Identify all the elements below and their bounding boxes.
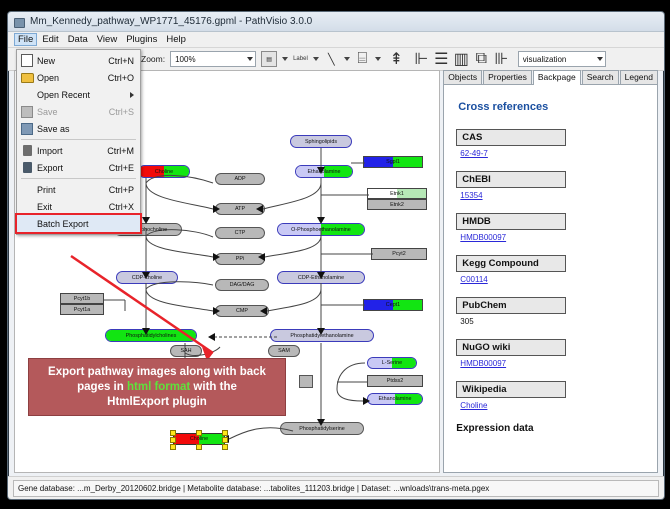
- file-menu-item-export[interactable]: Export Ctrl+E: [17, 159, 140, 176]
- file-menu-item-print[interactable]: Print Ctrl+P: [17, 181, 140, 198]
- backpage-content: Cross references CAS 62-49-7 ChEBI 15354…: [443, 85, 658, 473]
- menu-separator: [21, 139, 136, 140]
- title-bar: Mm_Kennedy_pathway_WP1771_45176.gpml - P…: [8, 12, 664, 32]
- file-menu-item-save: Save Ctrl+S: [17, 103, 140, 120]
- anchor-icon[interactable]: ⇞: [389, 52, 404, 67]
- label-dropdown-icon[interactable]: [313, 57, 319, 61]
- align-left-icon[interactable]: ⊩: [414, 52, 429, 67]
- xref-value-cas[interactable]: 62-49-7: [460, 149, 645, 158]
- menu-plugins[interactable]: Plugins: [122, 33, 161, 46]
- visualization-value: visualization: [523, 55, 567, 64]
- zoom-value: 100%: [175, 55, 195, 64]
- zoom-label: Zoom:: [141, 54, 165, 64]
- new-document-icon: [17, 54, 37, 67]
- menu-separator: [21, 178, 136, 179]
- selection-handle[interactable]: [196, 444, 202, 450]
- import-icon: [17, 145, 37, 156]
- selection-handle[interactable]: [170, 437, 176, 443]
- selection-handle[interactable]: [222, 430, 228, 436]
- screen: Mm_Kennedy_pathway_WP1771_45176.gpml - P…: [0, 0, 670, 509]
- xref-source-cas: CAS: [456, 129, 566, 146]
- save-as-icon: [17, 123, 37, 135]
- file-menu-dropdown[interactable]: New Ctrl+N Open Ctrl+O Open Recent Save …: [16, 49, 141, 235]
- callout-line-3: HtmlExport plugin: [107, 395, 207, 410]
- xref-source-kegg-compound: Kegg Compound: [456, 255, 566, 272]
- label-tool-button[interactable]: Label: [293, 56, 308, 62]
- xref-source-chebi: ChEBI: [456, 171, 566, 188]
- menu-file[interactable]: File: [14, 33, 37, 46]
- application-window: Mm_Kennedy_pathway_WP1771_45176.gpml - P…: [7, 11, 665, 500]
- annotation-callout: Export pathway images along with back pa…: [28, 358, 286, 416]
- chevron-down-icon: [597, 57, 603, 61]
- chevron-down-icon: [247, 57, 253, 61]
- pathvisio-app-icon: [13, 16, 25, 28]
- zoom-combo[interactable]: 100%: [170, 51, 256, 67]
- file-menu-item-save-as[interactable]: Save as: [17, 120, 140, 137]
- side-panel: Objects Properties Backpage Search Legen…: [443, 70, 658, 473]
- tab-legend[interactable]: Legend: [620, 70, 658, 84]
- xref-value-chebi[interactable]: 15354: [460, 191, 645, 200]
- menu-bar: File Edit Data View Plugins Help: [8, 32, 664, 48]
- tab-objects[interactable]: Objects: [443, 70, 482, 84]
- shape-icon[interactable]: ⌸: [355, 52, 370, 67]
- file-menu-item-import[interactable]: Import Ctrl+M: [17, 142, 140, 159]
- tab-search[interactable]: Search: [582, 70, 619, 84]
- callout-highlight: html format: [127, 381, 190, 393]
- xref-source-nugo-wiki: NuGO wiki: [456, 339, 566, 356]
- xref-source-pubchem: PubChem: [456, 297, 566, 314]
- window-title: Mm_Kennedy_pathway_WP1771_45176.gpml - P…: [30, 16, 312, 27]
- menu-edit[interactable]: Edit: [38, 33, 62, 46]
- expression-data-heading: Expression data: [456, 423, 645, 434]
- selection-handle[interactable]: [196, 430, 202, 436]
- file-menu-item-exit[interactable]: Exit Ctrl+X: [17, 198, 140, 215]
- xref-source-wikipedia: Wikipedia: [456, 381, 566, 398]
- open-folder-icon: [17, 73, 37, 83]
- shape-dropdown-icon[interactable]: [375, 57, 381, 61]
- selection-handle[interactable]: [222, 437, 228, 443]
- selection-handle[interactable]: [170, 444, 176, 450]
- align-columns-icon[interactable]: ▥: [454, 52, 469, 67]
- selection-handle[interactable]: [222, 444, 228, 450]
- datanode-icon[interactable]: ▤: [261, 51, 277, 67]
- xref-value-pubchem: 305: [460, 317, 645, 326]
- file-menu-item-open[interactable]: Open Ctrl+O: [17, 69, 140, 86]
- visualization-combo[interactable]: visualization: [518, 51, 606, 67]
- selection-handle[interactable]: [170, 430, 176, 436]
- cross-references-heading: Cross references: [458, 101, 645, 113]
- menu-view[interactable]: View: [93, 33, 121, 46]
- datanode-dropdown-icon[interactable]: [282, 57, 288, 61]
- file-menu-item-batch-export[interactable]: Batch Export: [17, 215, 140, 232]
- tab-backpage[interactable]: Backpage: [533, 70, 581, 85]
- xref-source-hmdb: HMDB: [456, 213, 566, 230]
- export-icon: [17, 162, 37, 173]
- callout-line-2: pages in html format with the: [77, 380, 237, 395]
- save-disk-icon: [17, 106, 37, 118]
- xref-value-hmdb[interactable]: HMDB00097: [460, 233, 645, 242]
- stack-icon[interactable]: ⧉: [474, 52, 489, 67]
- callout-line-1: Export pathway images along with back: [48, 365, 266, 380]
- menu-data[interactable]: Data: [64, 33, 92, 46]
- align-edge-icon[interactable]: ⊪: [494, 52, 509, 67]
- line-icon[interactable]: ╲: [324, 52, 339, 67]
- file-menu-item-new[interactable]: New Ctrl+N: [17, 52, 140, 69]
- file-menu-item-open-recent[interactable]: Open Recent: [17, 86, 140, 103]
- menu-help[interactable]: Help: [162, 33, 190, 46]
- status-text: Gene database: ...m_Derby_20120602.bridg…: [13, 480, 659, 497]
- status-bar: Gene database: ...m_Derby_20120602.bridg…: [8, 476, 664, 499]
- tab-properties[interactable]: Properties: [483, 70, 532, 84]
- xref-value-nugo-wiki[interactable]: HMDB00097: [460, 359, 645, 368]
- align-rows-icon[interactable]: ☰: [434, 52, 449, 67]
- xref-value-wikipedia[interactable]: Choline: [460, 401, 645, 410]
- xref-value-kegg-compound[interactable]: C00114: [460, 275, 645, 284]
- side-panel-tabs: Objects Properties Backpage Search Legen…: [443, 70, 658, 85]
- submenu-arrow-icon: [130, 92, 134, 98]
- line-dropdown-icon[interactable]: [344, 57, 350, 61]
